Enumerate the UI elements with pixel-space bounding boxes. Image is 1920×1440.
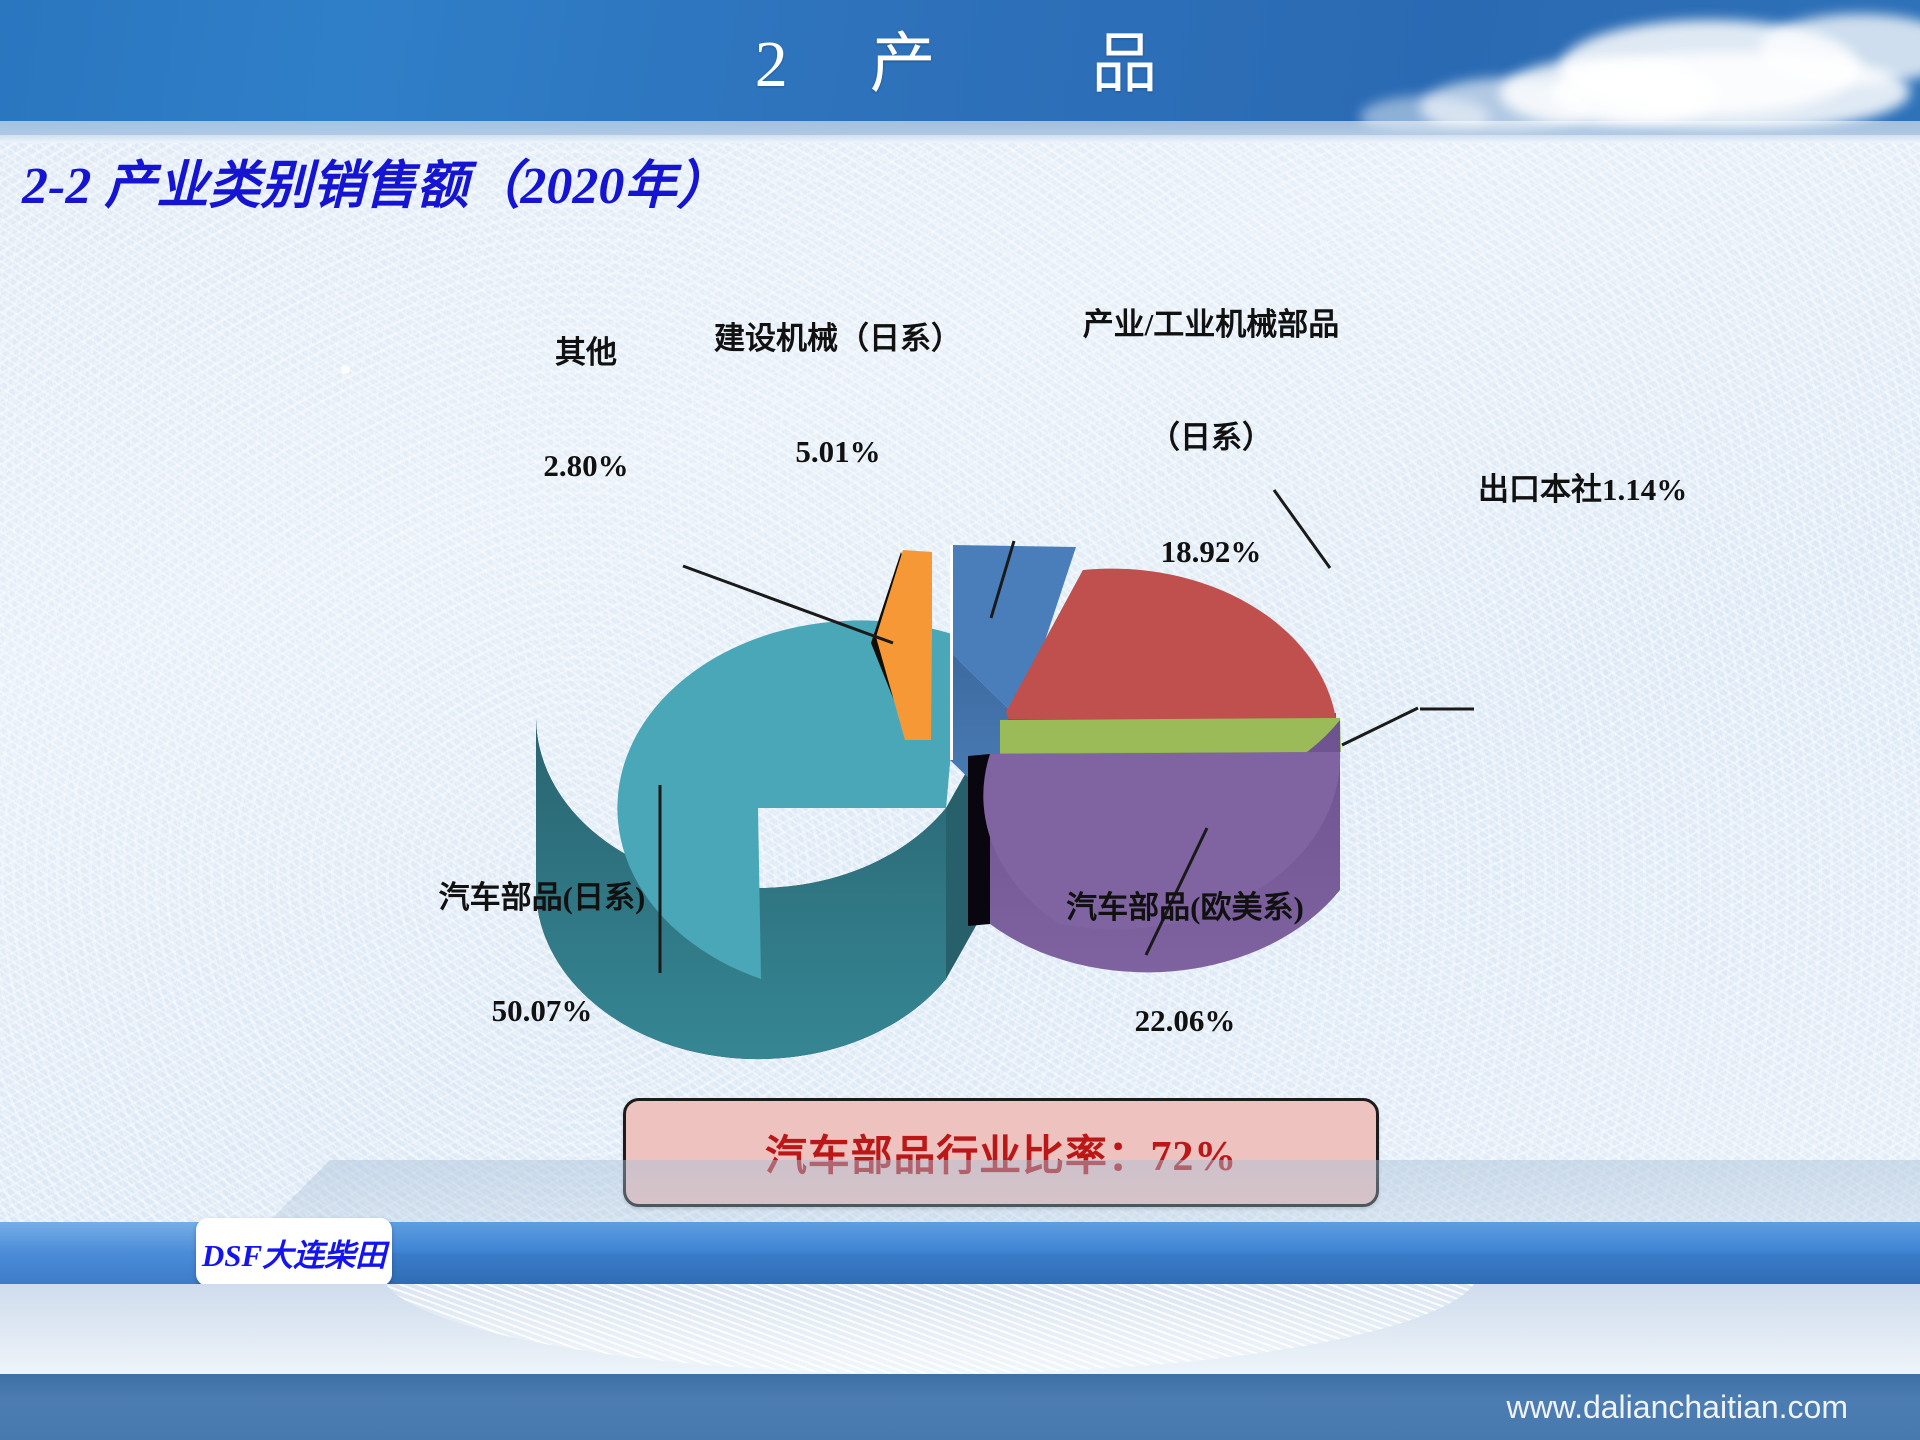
pie-label-industrial: 产业/工业机械部品 （日系） 18.92% <box>1046 230 1376 646</box>
header-divider-secondary <box>0 135 1920 143</box>
leader-line-export <box>1342 708 1418 745</box>
header-divider <box>0 121 1920 135</box>
pie-label-industrial-name2: （日系） <box>1046 419 1376 457</box>
pie-label-other-value: 2.80% <box>496 447 676 485</box>
pie-label-automotive-eu: 汽车部品(欧美系) 22.06% <box>1010 813 1360 1116</box>
page-title: 2 产 品 <box>0 10 1920 106</box>
pie-label-industrial-value: 18.92% <box>1046 533 1376 571</box>
footer-url-bar: www.dalianchaitian.com <box>0 1374 1920 1440</box>
pie-label-export: 出口本社1.14% <box>1478 395 1778 584</box>
pie-label-automotive-eu-name: 汽车部品(欧美系) <box>1010 889 1360 927</box>
pie-label-construction: 建设机械（日系） 5.01% <box>702 244 974 547</box>
footer-white-band <box>0 1284 1920 1374</box>
pie-label-other-name: 其他 <box>496 334 676 372</box>
pie-label-automotive-jp-name: 汽车部品(日系) <box>372 879 712 917</box>
pie-label-other: 其他 2.80% <box>496 258 676 561</box>
pie-chart: 其他 2.80% 建设机械（日系） 5.01% 产业/工业机械部品 （日系） 1… <box>0 200 1920 1080</box>
pie-label-construction-name: 建设机械（日系） <box>702 320 974 358</box>
slide: 2 产 品 2-2 产业类别销售额（2020年） <box>0 0 1920 1440</box>
website-url: www.dalianchaitian.com <box>1507 1389 1849 1426</box>
pie-label-automotive-jp-value: 50.07% <box>372 992 712 1030</box>
pie-label-automotive-jp: 汽车部品(日系) 50.07% <box>372 803 712 1106</box>
pie-label-industrial-name: 产业/工业机械部品 <box>1046 306 1376 344</box>
pie-label-export-name: 出口本社1.14% <box>1478 471 1778 509</box>
pie-label-construction-value: 5.01% <box>702 433 974 471</box>
company-logo-badge: DSF大连柴田 <box>196 1218 392 1286</box>
footer-bar-left-cap <box>0 1222 205 1284</box>
pie-label-automotive-eu-value: 22.06% <box>1010 1002 1360 1040</box>
company-logo-text: DSF大连柴田 <box>202 1230 386 1275</box>
slide-header: 2 产 品 <box>0 0 1920 150</box>
